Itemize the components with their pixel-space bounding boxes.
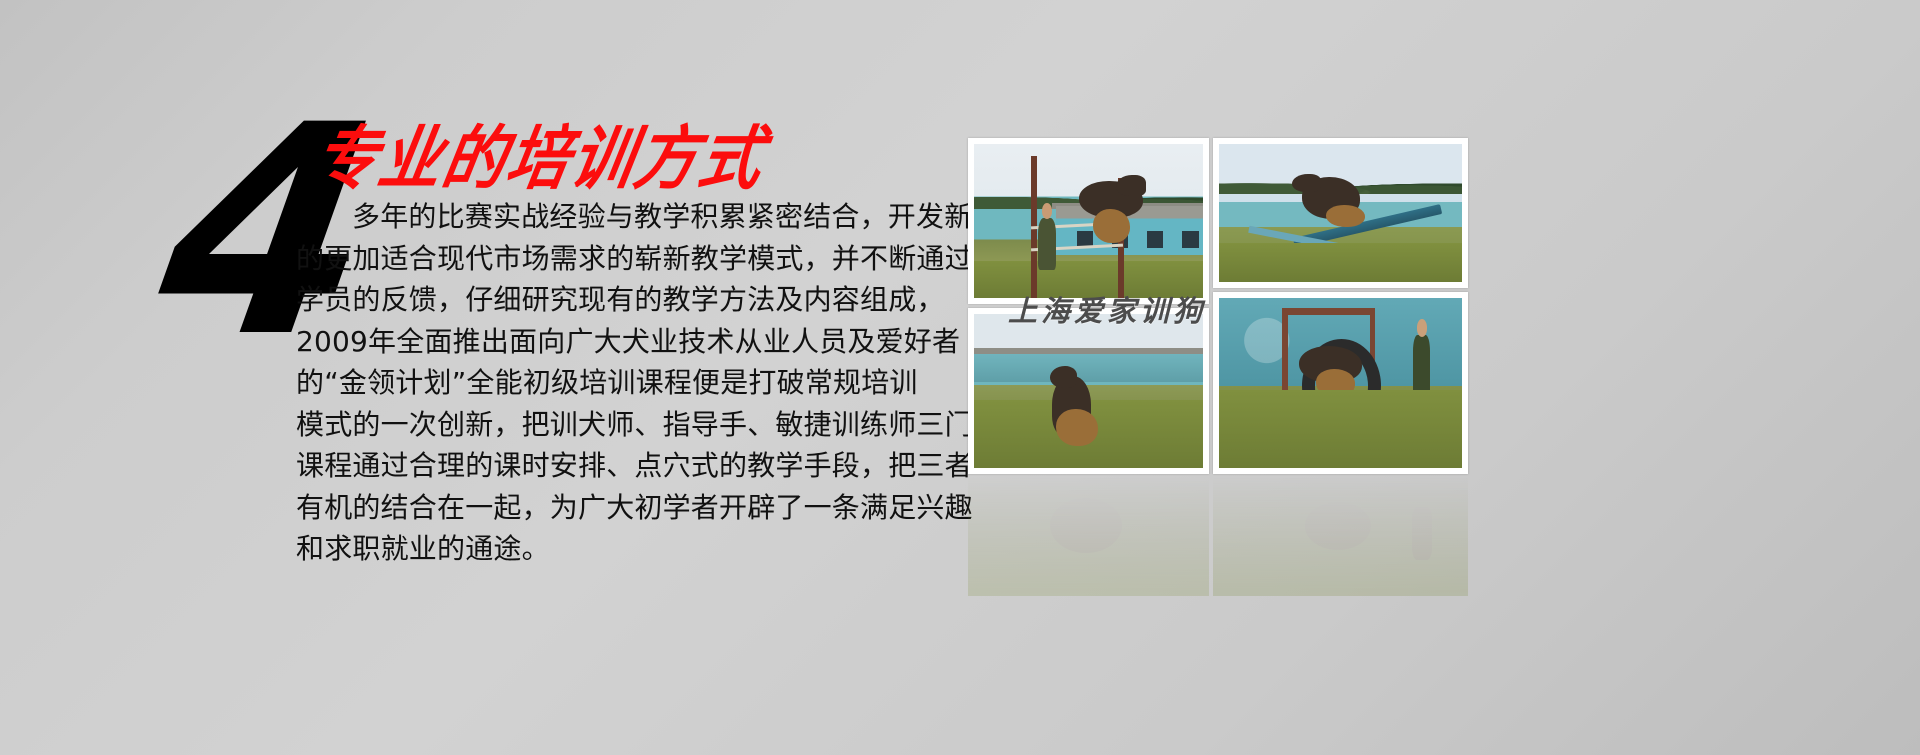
gallery-reflection (968, 476, 1468, 606)
body-line: 课程通过合理的课时安排、点穴式的教学手段，把三者 (296, 445, 952, 487)
body-line: 2009年全面推出面向广大犬业技术从业人员及爱好者 (296, 321, 952, 363)
banner-stage: 4 专业的培训方式 多年的比赛实战经验与教学积累紧密结合，开发新 的更加适合现代… (0, 0, 1920, 755)
body-line: 模式的一次创新，把训犬师、指导手、敏捷训练师三门 (296, 404, 952, 446)
body-line: 学员的反馈，仔细研究现有的教学方法及内容组成， (296, 279, 952, 321)
body-line: 的更加适合现代市场需求的崭新教学模式，并不断通过 (296, 238, 952, 280)
photo-dog-sit-up (968, 308, 1209, 474)
photo-dog-hurdle-jump (968, 138, 1209, 304)
body-line: 多年的比赛实战经验与教学积累紧密结合，开发新 (296, 196, 952, 238)
photo-dog-tyre-jump (1213, 292, 1468, 474)
body-line: 有机的结合在一起，为广大初学者开辟了一条满足兴趣 (296, 487, 952, 529)
page-title: 专业的培训方式 (309, 123, 770, 195)
body-paragraph: 多年的比赛实战经验与教学积累紧密结合，开发新 的更加适合现代市场需求的崭新教学模… (296, 196, 952, 570)
body-line: 和求职就业的通途。 (296, 528, 952, 570)
photo-dog-seesaw (1213, 138, 1468, 288)
watermark-text: 上海爱家训狗 (1008, 288, 1206, 330)
body-line: 的“金领计划”全能初级培训课程便是打破常规培训 (296, 362, 952, 404)
